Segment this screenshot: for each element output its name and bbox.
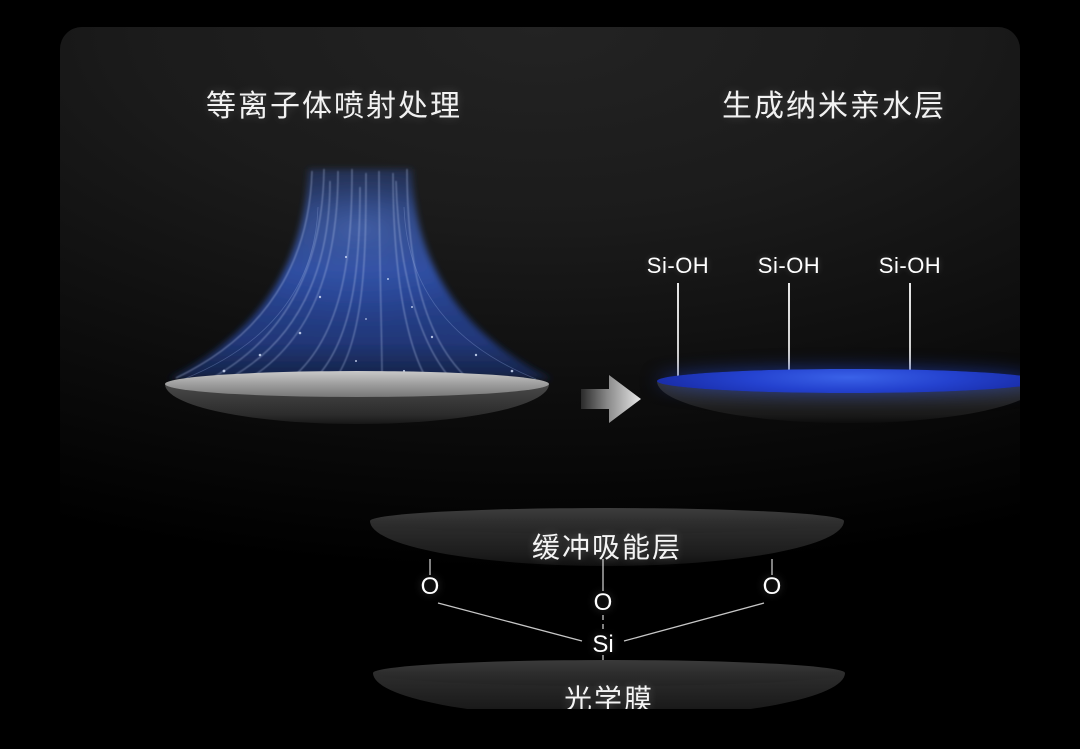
substrate-disc-untreated	[165, 371, 549, 429]
panel-title-hydrophilic-layer: 生成纳米亲水层	[722, 81, 946, 125]
sioh-label-2: Si-OH	[758, 253, 820, 279]
diagram-card: 等离子体喷射处理 生成纳米亲水层	[60, 27, 1020, 709]
sioh-stem-3	[909, 283, 911, 379]
right-arrow-icon	[579, 371, 643, 427]
substrate-disc-coated	[657, 369, 1020, 427]
atom-oxygen-center: O	[594, 589, 613, 617]
sioh-label-3: Si-OH	[879, 253, 941, 279]
optical-film-disc: 光学膜	[373, 660, 845, 709]
sioh-stem-2	[788, 283, 790, 379]
optical-film-label: 光学膜	[373, 678, 845, 709]
plasma-spray-plume	[160, 147, 560, 392]
sioh-label-1: Si-OH	[647, 253, 709, 279]
sioh-stem-1	[677, 283, 679, 379]
diagram-canvas: 等离子体喷射处理 生成纳米亲水层	[0, 0, 1080, 749]
atom-oxygen-left: O	[421, 573, 440, 601]
disc-top-surface-hydrophilic	[657, 369, 1020, 393]
atom-oxygen-right: O	[763, 573, 782, 601]
atom-silicon: Si	[592, 631, 613, 659]
panel-title-plasma-treatment: 等离子体喷射处理	[206, 81, 462, 125]
disc-top-surface	[165, 371, 549, 397]
siloxane-bond-diagram: O O O Si	[360, 555, 860, 673]
